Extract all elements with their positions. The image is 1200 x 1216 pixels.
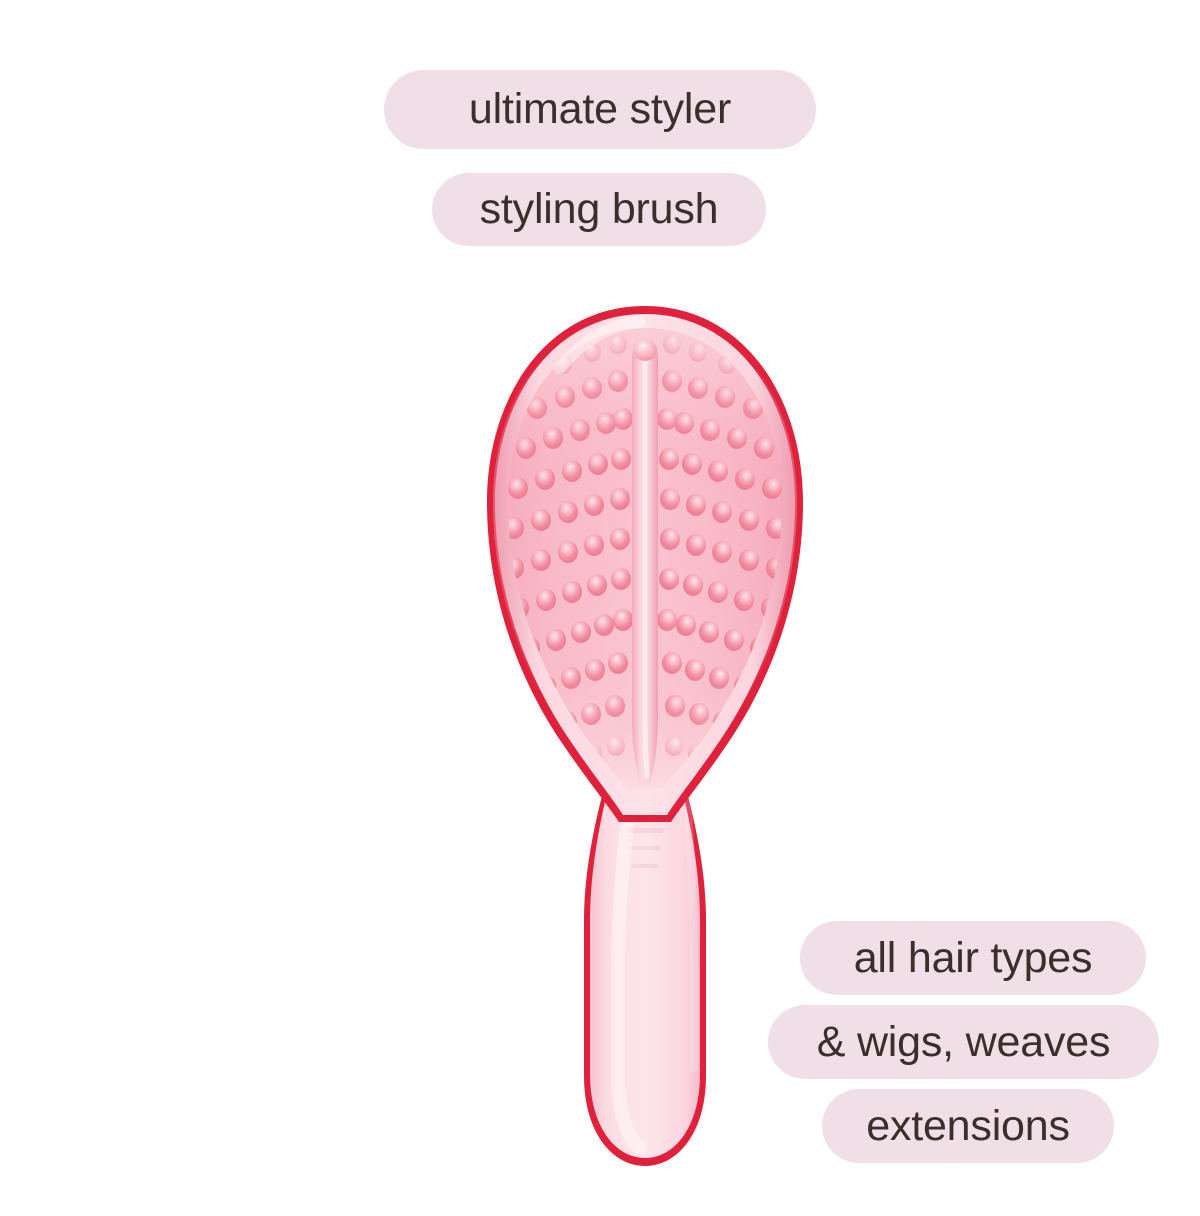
handle-emboss	[626, 812, 664, 868]
badge-ultimate-styler: ultimate styler	[384, 70, 816, 149]
head-red-rim	[487, 306, 803, 822]
center-ridge	[632, 339, 658, 784]
badge-extensions: extensions	[822, 1089, 1114, 1163]
badge-label: styling brush	[480, 188, 719, 231]
badge-styling-brush: styling brush	[432, 173, 766, 246]
head-body	[495, 314, 795, 815]
bristles	[504, 334, 786, 764]
brush-head-group	[480, 306, 810, 822]
badge-label: all hair types	[854, 937, 1093, 980]
brush-handle-group	[584, 716, 706, 1166]
badge-wigs-weaves: & wigs, weaves	[768, 1005, 1159, 1079]
badge-label: ultimate styler	[469, 88, 731, 131]
bristle-pad	[480, 316, 810, 816]
badge-label: extensions	[866, 1105, 1070, 1148]
badge-all-hair-types: all hair types	[800, 921, 1146, 995]
badge-label: & wigs, weaves	[817, 1021, 1111, 1064]
product-image-canvas: ultimate styler styling brush all hair t…	[0, 0, 1200, 1200]
